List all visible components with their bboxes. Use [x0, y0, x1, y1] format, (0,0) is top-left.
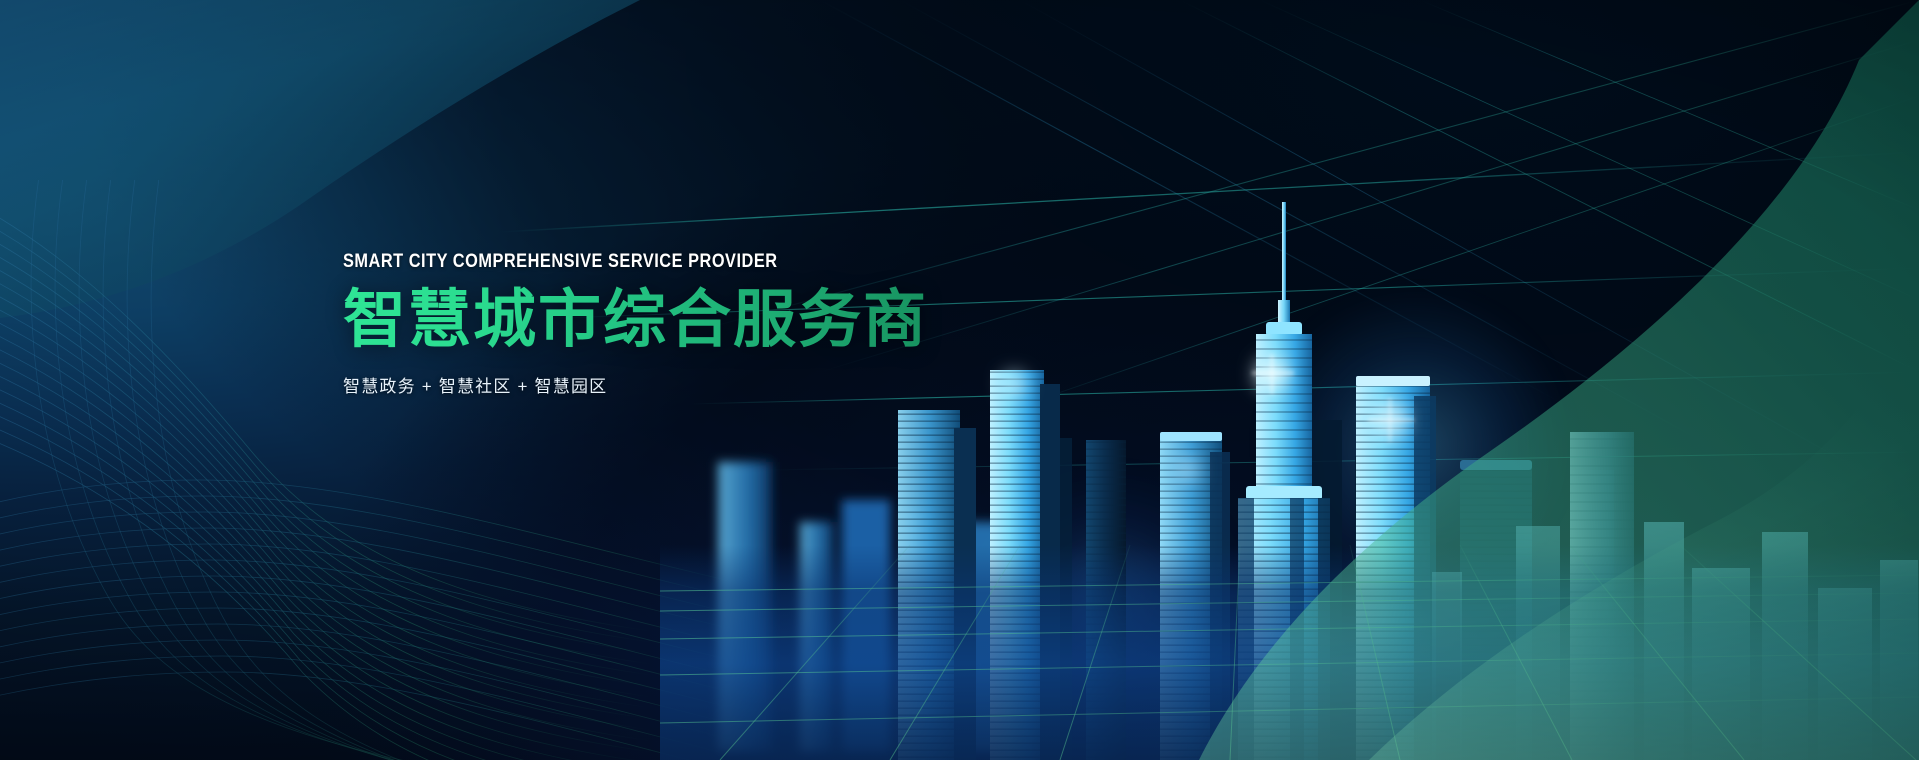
- hero-headline: 智慧城市综合服务商: [343, 285, 1103, 356]
- smart-city-hero-banner: SMART CITY COMPREHENSIVE SERVICE PROVIDE…: [0, 0, 1919, 760]
- hero-subline: 智慧政务 + 智慧社区 + 智慧园区: [343, 372, 1103, 397]
- hero-copy-block: SMART CITY COMPREHENSIVE SERVICE PROVIDE…: [343, 252, 1103, 397]
- green-curved-overlay: [1159, 0, 1919, 760]
- hero-eyebrow: SMART CITY COMPREHENSIVE SERVICE PROVIDE…: [343, 252, 997, 271]
